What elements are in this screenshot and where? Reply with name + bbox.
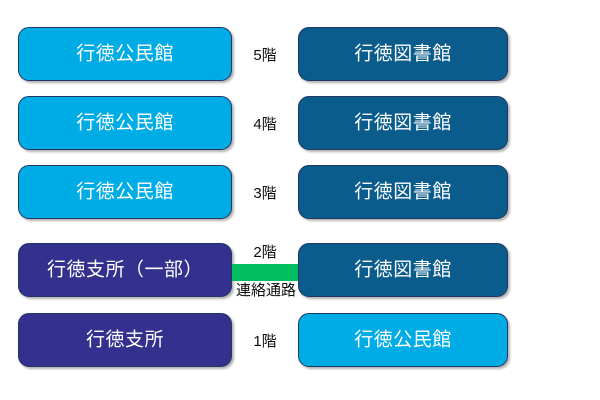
facility-box-left-5f[interactable]: 行徳公民館 — [18, 27, 232, 81]
facility-box-right-1f[interactable]: 行徳公民館 — [298, 313, 508, 367]
floor-label-3f: 3階 — [232, 186, 298, 201]
connecting-corridor-label: 連絡通路 — [228, 283, 304, 298]
facility-label: 行徳公民館 — [76, 44, 174, 63]
facility-label: 行徳支所 — [86, 330, 164, 349]
connecting-corridor-bar — [232, 264, 298, 281]
facility-label: 行徳図書館 — [354, 113, 452, 132]
floor-label-4f: 4階 — [232, 117, 298, 132]
facility-box-left-4f[interactable]: 行徳公民館 — [18, 96, 232, 150]
facility-box-right-5f[interactable]: 行徳図書館 — [298, 27, 508, 81]
floor-label-2f: 2階 — [232, 245, 298, 260]
facility-box-left-1f[interactable]: 行徳支所 — [18, 313, 232, 367]
facility-label: 行徳図書館 — [354, 260, 452, 279]
facility-label: 行徳図書館 — [354, 44, 452, 63]
facility-box-right-4f[interactable]: 行徳図書館 — [298, 96, 508, 150]
facility-label: 行徳図書館 — [354, 182, 452, 201]
floor-label-1f: 1階 — [232, 334, 298, 349]
facility-box-left-3f[interactable]: 行徳公民館 — [18, 165, 232, 219]
facility-label: 行徳公民館 — [76, 113, 174, 132]
facility-box-right-2f[interactable]: 行徳図書館 — [298, 243, 508, 297]
facility-label: 行徳支所（一部） — [47, 260, 203, 279]
facility-label: 行徳公民館 — [76, 182, 174, 201]
facility-box-right-3f[interactable]: 行徳図書館 — [298, 165, 508, 219]
facility-label: 行徳公民館 — [354, 330, 452, 349]
floor-layout-diagram: 行徳公民館 5階 行徳図書館 行徳公民館 4階 行徳図書館 行徳公民館 3階 行… — [0, 0, 600, 400]
facility-box-left-2f[interactable]: 行徳支所（一部） — [18, 243, 232, 297]
floor-label-5f: 5階 — [232, 48, 298, 63]
